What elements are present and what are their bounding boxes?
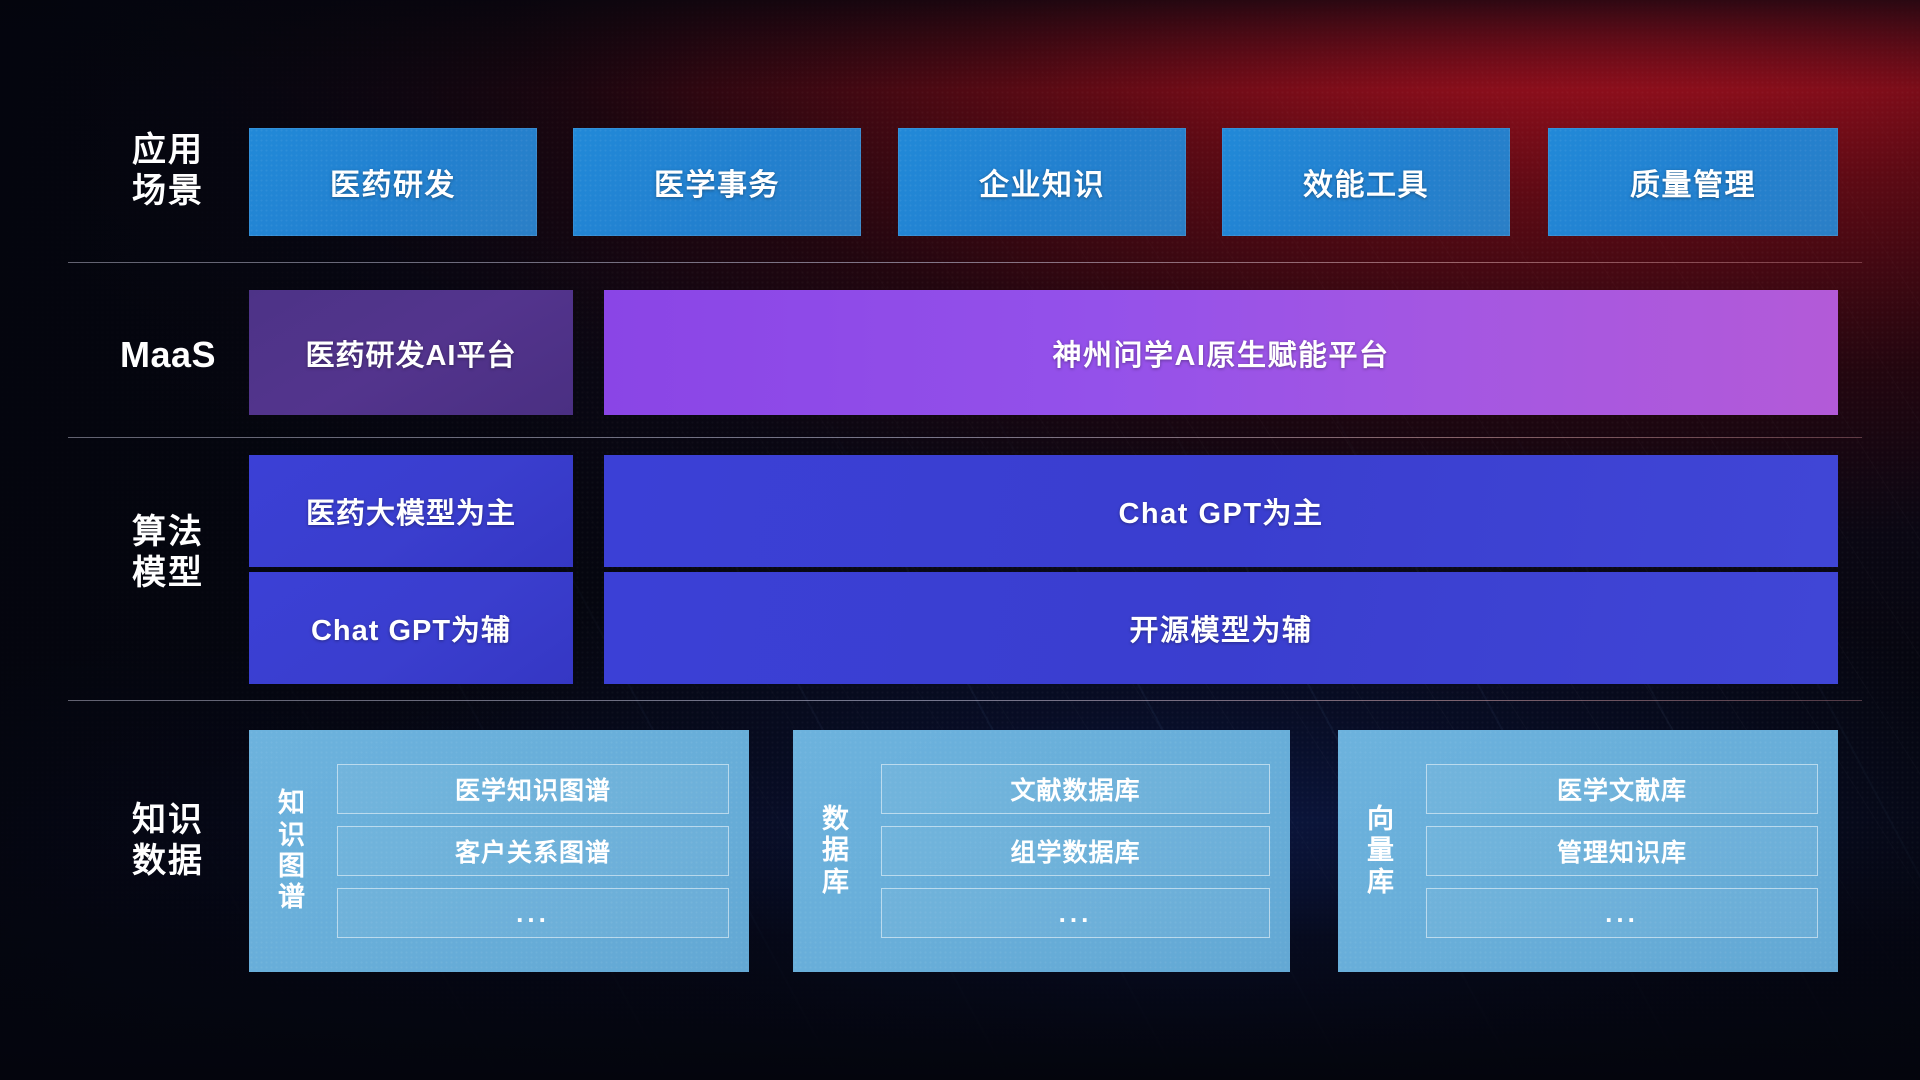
knowledge-item-1-2[interactable]: 客户关系图谱 — [337, 826, 729, 876]
knowledge-item-1-1[interactable]: 医学知识图谱 — [337, 764, 729, 814]
algorithm-box-left-1[interactable]: 医药大模型为主 — [249, 455, 573, 567]
knowledge-panel-title-1: 知 识 图 谱 — [261, 788, 323, 913]
algorithm-box-left-2[interactable]: Chat GPT为辅 — [249, 572, 573, 684]
divider-application-maas — [68, 262, 1862, 263]
app-scenario-box-2[interactable]: 医学事务 — [573, 128, 861, 236]
knowledge-panel-title-2: 数 据 库 — [805, 804, 867, 898]
app-scenario-label-2: 医学事务 — [654, 160, 780, 204]
row-label-application: 应用 场景 — [88, 130, 248, 213]
knowledge-item-1-3[interactable]: ... — [337, 888, 729, 938]
divider-algorithm-knowledge — [68, 700, 1862, 701]
knowledge-panel-knowledge-graph[interactable]: 知 识 图 谱 医学知识图谱 客户关系图谱 ... — [249, 730, 749, 972]
maas-platform-box-left[interactable]: 医药研发AI平台 — [249, 290, 573, 415]
algorithm-box-right-1[interactable]: Chat GPT为主 — [604, 455, 1838, 567]
maas-platform-label-left: 医药研发AI平台 — [305, 332, 516, 374]
divider-maas-algorithm — [68, 437, 1862, 438]
row-label-knowledge: 知识 数据 — [88, 800, 248, 883]
app-scenario-box-4[interactable]: 效能工具 — [1222, 128, 1510, 236]
app-scenario-label-5: 质量管理 — [1630, 160, 1756, 204]
knowledge-item-3-3[interactable]: ... — [1426, 888, 1818, 938]
algorithm-box-right-2[interactable]: 开源模型为辅 — [604, 572, 1838, 684]
knowledge-panel-items-2: 文献数据库 组学数据库 ... — [867, 764, 1274, 938]
app-scenario-label-4: 效能工具 — [1303, 160, 1429, 204]
knowledge-panel-title-3: 向 量 库 — [1350, 804, 1412, 898]
knowledge-panel-items-1: 医学知识图谱 客户关系图谱 ... — [323, 764, 733, 938]
knowledge-item-2-3[interactable]: ... — [881, 888, 1270, 938]
app-scenario-box-3[interactable]: 企业知识 — [898, 128, 1186, 236]
app-scenario-label-1: 医药研发 — [330, 160, 456, 204]
app-scenario-box-5[interactable]: 质量管理 — [1548, 128, 1838, 236]
algorithm-label-right-1: Chat GPT为主 — [1118, 490, 1323, 532]
knowledge-item-3-1[interactable]: 医学文献库 — [1426, 764, 1818, 814]
row-label-maas: MaaS — [88, 333, 248, 377]
knowledge-item-2-2[interactable]: 组学数据库 — [881, 826, 1270, 876]
algorithm-label-left-2: Chat GPT为辅 — [311, 607, 511, 649]
slide-canvas: 应用 场景 医药研发 医学事务 企业知识 效能工具 质量管理 MaaS 医药研发… — [0, 0, 1920, 1080]
knowledge-panel-vector-store[interactable]: 向 量 库 医学文献库 管理知识库 ... — [1338, 730, 1838, 972]
algorithm-label-left-1: 医药大模型为主 — [306, 490, 516, 532]
app-scenario-label-3: 企业知识 — [979, 160, 1105, 204]
row-label-algorithm: 算法 模型 — [88, 512, 248, 595]
algorithm-label-right-2: 开源模型为辅 — [1129, 607, 1312, 649]
knowledge-panel-items-3: 医学文献库 管理知识库 ... — [1412, 764, 1822, 938]
knowledge-item-2-1[interactable]: 文献数据库 — [881, 764, 1270, 814]
knowledge-item-3-2[interactable]: 管理知识库 — [1426, 826, 1818, 876]
app-scenario-box-1[interactable]: 医药研发 — [249, 128, 537, 236]
knowledge-panel-database[interactable]: 数 据 库 文献数据库 组学数据库 ... — [793, 730, 1290, 972]
maas-platform-label-right: 神州问学AI原生赋能平台 — [1052, 332, 1389, 374]
maas-platform-box-right[interactable]: 神州问学AI原生赋能平台 — [604, 290, 1838, 415]
